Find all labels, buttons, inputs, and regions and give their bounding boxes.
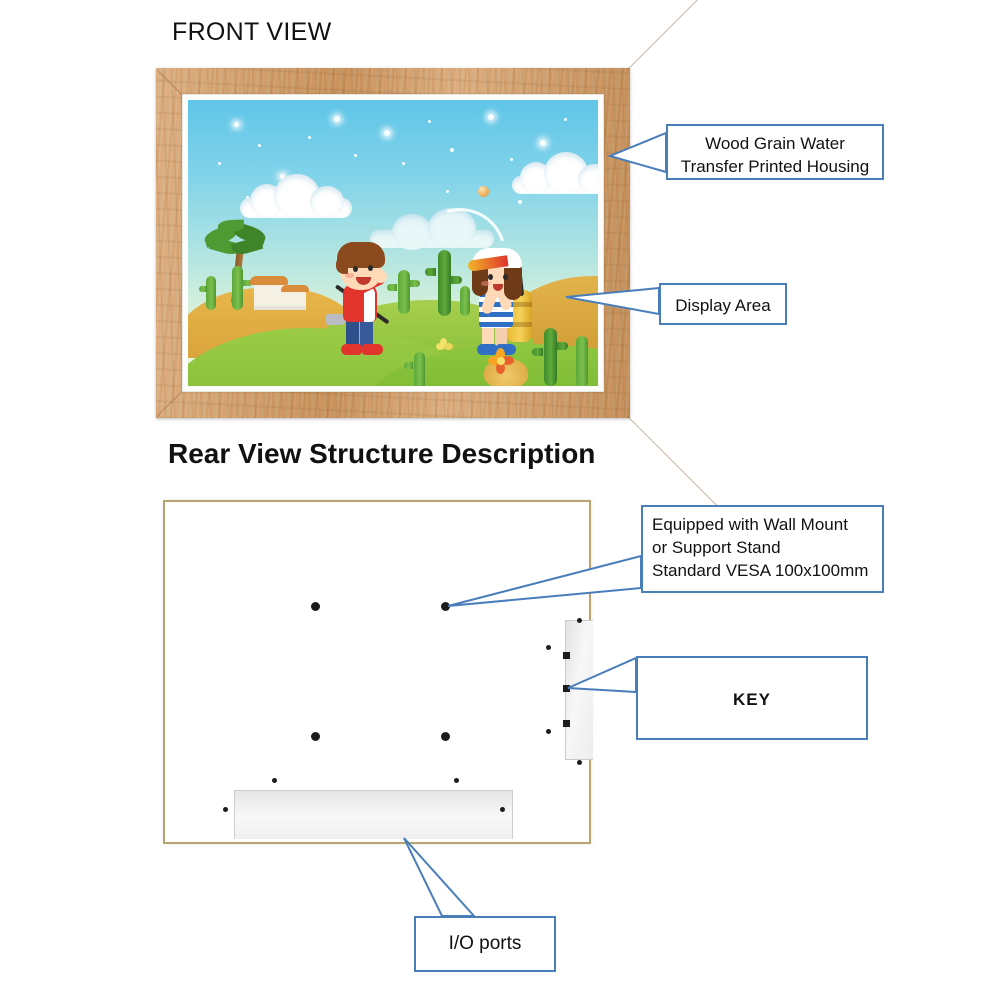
cloud xyxy=(510,152,598,194)
sky-sparkle xyxy=(488,114,494,120)
sky-sparkle xyxy=(446,190,449,193)
sky-sparkle xyxy=(354,154,357,157)
sky-sparkle xyxy=(218,162,221,165)
eye xyxy=(353,266,358,272)
callout-display-area: Display Area xyxy=(659,283,787,325)
callout-housing-line1: Wood Grain Water xyxy=(668,132,882,155)
rear-view-heading: Rear View Structure Description xyxy=(168,438,595,470)
sky-sparkle xyxy=(334,116,340,122)
key-button[interactable] xyxy=(563,720,570,727)
cactus-arm xyxy=(199,286,207,292)
golf-ball xyxy=(478,186,489,197)
frame-miter-corner xyxy=(627,416,727,516)
sky-sparkle xyxy=(234,122,239,127)
callout-housing: Wood Grain Water Transfer Printed Housin… xyxy=(666,124,884,180)
diagram-canvas: FRONT VIEW xyxy=(0,0,1000,1000)
flower xyxy=(436,338,452,354)
screw-dot xyxy=(546,729,551,734)
sky-sparkle xyxy=(540,140,546,146)
cactus-arm xyxy=(425,268,436,276)
cactus xyxy=(544,328,557,386)
key-button[interactable] xyxy=(563,685,570,692)
sky-sparkle xyxy=(384,130,390,136)
callout-key: KEY xyxy=(636,656,868,740)
cheek xyxy=(481,281,490,286)
screw-dot xyxy=(500,807,505,812)
callout-display-area-line1: Display Area xyxy=(661,294,785,317)
vesa-hole xyxy=(311,732,320,741)
sky-sparkle xyxy=(518,200,522,204)
callout-vesa-line1: Equipped with Wall Mount xyxy=(652,513,848,536)
cactus xyxy=(232,266,243,310)
house-roof xyxy=(250,276,288,285)
callout-io-ports-line1: I/O ports xyxy=(416,932,554,955)
sky-sparkle xyxy=(258,144,261,147)
screw-dot xyxy=(454,778,459,783)
house-roof xyxy=(281,285,309,292)
cloud xyxy=(236,172,356,218)
callout-vesa: Equipped with Wall Mount or Support Stan… xyxy=(641,505,884,593)
cactus-arm xyxy=(410,280,420,287)
cactus-arm xyxy=(557,342,568,350)
eye xyxy=(503,274,508,280)
callout-housing-line2: Transfer Printed Housing xyxy=(668,155,882,178)
io-ports-recess xyxy=(234,790,513,839)
flower xyxy=(488,348,514,374)
cactus xyxy=(576,336,588,386)
screw-dot xyxy=(546,645,551,650)
vesa-hole xyxy=(441,602,450,611)
callout-vesa-line3: Standard VESA 100x100mm xyxy=(652,559,868,582)
palm-frond xyxy=(231,236,263,257)
display-bezel xyxy=(182,94,604,392)
screw-dot xyxy=(577,618,582,623)
vesa-hole xyxy=(311,602,320,611)
sky-sparkle xyxy=(402,162,405,165)
key-button[interactable] xyxy=(563,652,570,659)
cactus-arm xyxy=(404,362,413,369)
screw-dot xyxy=(577,760,582,765)
vesa-hole xyxy=(441,732,450,741)
rear-panel xyxy=(163,500,591,844)
eye xyxy=(368,265,373,271)
callout-key-line1: KEY xyxy=(638,688,866,711)
girl-caddie xyxy=(466,246,546,362)
sky-sparkle xyxy=(308,136,311,139)
io-leader xyxy=(404,838,474,916)
callout-io-ports: I/O ports xyxy=(414,916,556,972)
frame-miter-corner xyxy=(627,0,727,70)
shoe xyxy=(362,344,383,355)
cheek xyxy=(345,273,354,278)
sky-sparkle xyxy=(428,120,431,123)
shoe xyxy=(341,344,362,355)
sky-sparkle xyxy=(564,118,567,121)
cactus xyxy=(206,276,216,310)
hair-side xyxy=(336,256,348,274)
screw-dot xyxy=(272,778,277,783)
wood-grain-housing xyxy=(156,68,630,418)
sky-sparkle xyxy=(450,148,454,152)
cactus-arm xyxy=(532,348,543,356)
cactus xyxy=(438,250,451,316)
screw-dot xyxy=(223,807,228,812)
cactus-arm xyxy=(451,276,462,284)
cactus xyxy=(414,352,425,386)
front-view-heading: FRONT VIEW xyxy=(172,18,331,47)
callout-vesa-line2: or Support Stand xyxy=(652,536,781,559)
eye xyxy=(488,274,493,280)
house xyxy=(284,290,306,310)
boy-golfer xyxy=(316,240,402,360)
display-area-screen xyxy=(188,100,598,386)
house xyxy=(254,282,284,310)
